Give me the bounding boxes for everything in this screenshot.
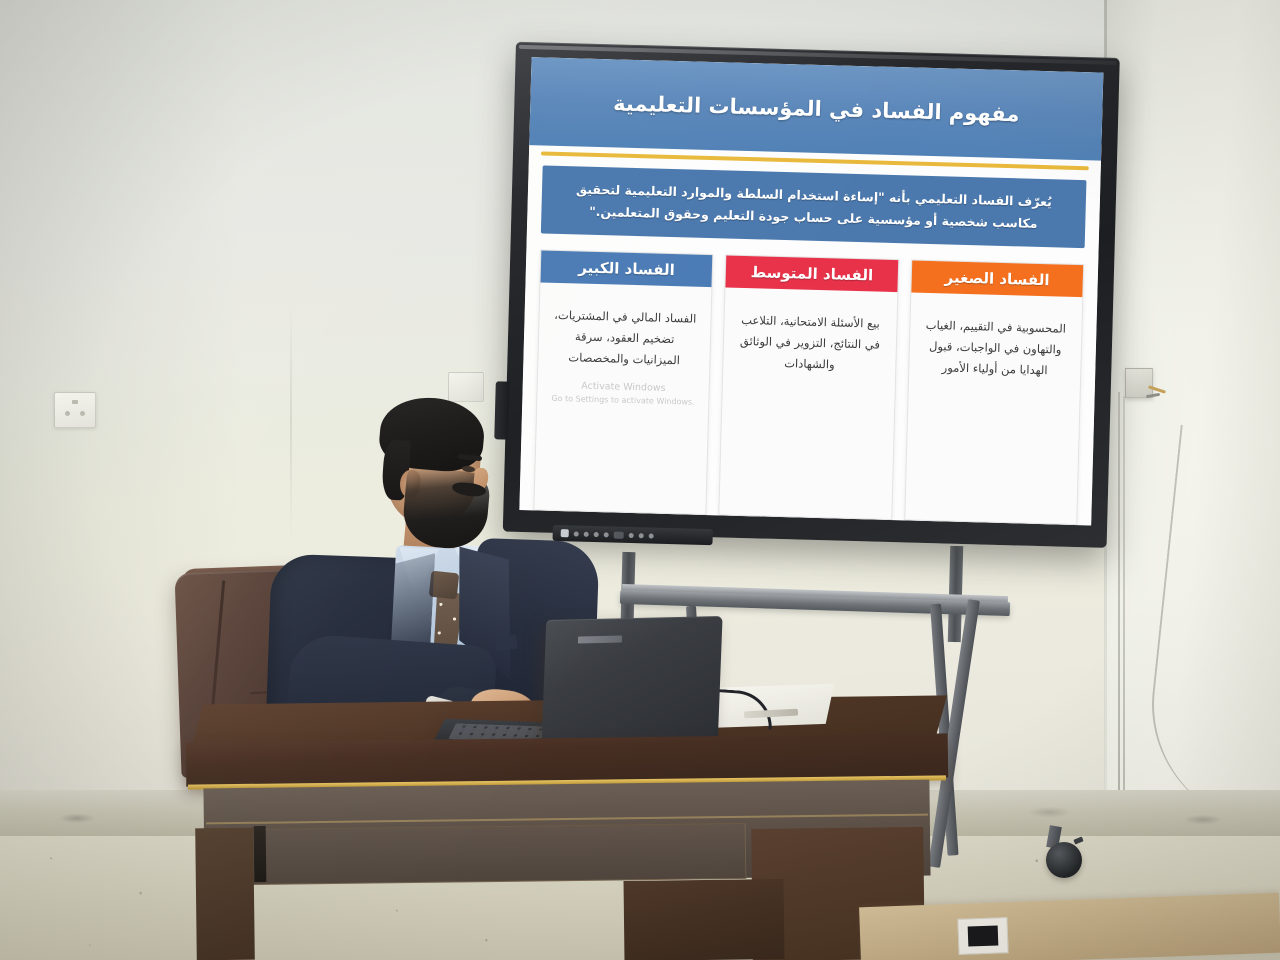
interactive-display[interactable]: مفهوم الفساد في المؤسسات التعليمية يُعرّ… [502, 42, 1136, 569]
photo-scene: مفهوم الفساد في المؤسسات التعليمية يُعرّ… [0, 0, 1280, 960]
slide-column-medium-corruption: الفساد المتوسط بيع الأسئلة الامتحانية، ا… [719, 254, 899, 520]
wall-socket-secondary-icon [448, 372, 484, 402]
desk-kick-panel [624, 879, 785, 960]
laptop-lid[interactable] [541, 616, 722, 748]
display-control-bar[interactable] [553, 525, 713, 545]
power-button-icon[interactable] [561, 529, 569, 537]
caster-wheel-icon [1046, 842, 1082, 878]
slide-column-grand-corruption: الفساد الكبير الفساد المالي في المشتريات… [533, 249, 713, 515]
junction-box-icon [1125, 368, 1153, 398]
watermark-line-2: Go to Settings to activate Windows. [537, 392, 709, 409]
slide-column-small-corruption: الفساد الصغير المحسوبية في التقييم، الغي… [904, 259, 1084, 525]
side-table-object-inner [968, 925, 999, 946]
desk-center-panel [244, 823, 747, 885]
ir-sensor-icon [614, 531, 624, 538]
control-button-icon[interactable] [574, 531, 579, 536]
control-button-icon[interactable] [604, 532, 609, 537]
control-button-icon[interactable] [649, 533, 654, 538]
column-heading: الفساد المتوسط [726, 255, 898, 292]
slide-columns: الفساد الصغير المحسوبية في التقييم، الغي… [533, 249, 1084, 525]
wall-socket-icon [54, 392, 96, 428]
display-screen[interactable]: مفهوم الفساد في المؤسسات التعليمية يُعرّ… [519, 57, 1103, 525]
column-heading: الفساد الكبير [541, 250, 713, 287]
lenovo-logo-icon [578, 636, 622, 644]
side-table-object [957, 917, 1008, 955]
desk-gap [254, 826, 267, 882]
slide-definition-box: يُعرّف الفساد التعليمي بأنه "إساءة استخد… [541, 165, 1087, 247]
control-button-icon[interactable] [584, 531, 589, 536]
display-side-handle [494, 381, 510, 439]
wall-seam [290, 300, 292, 540]
column-body: المحسوبية في التقييم، الغياب والتهاون في… [908, 292, 1082, 404]
control-button-icon[interactable] [629, 532, 634, 537]
column-body: بيع الأسئلة الامتحانية، التلاعب في النتا… [723, 287, 897, 399]
desk-side-left [195, 828, 255, 960]
control-button-icon[interactable] [639, 533, 644, 538]
control-button-icon[interactable] [594, 531, 599, 536]
presentation-slide: مفهوم الفساد في المؤسسات التعليمية يُعرّ… [519, 57, 1103, 525]
slide-title: مفهوم الفساد في المؤسسات التعليمية [529, 57, 1103, 160]
column-heading: الفساد الصغير [911, 260, 1083, 297]
column-body: الفساد المالي في المشتريات، تضخيم العقود… [538, 282, 712, 394]
